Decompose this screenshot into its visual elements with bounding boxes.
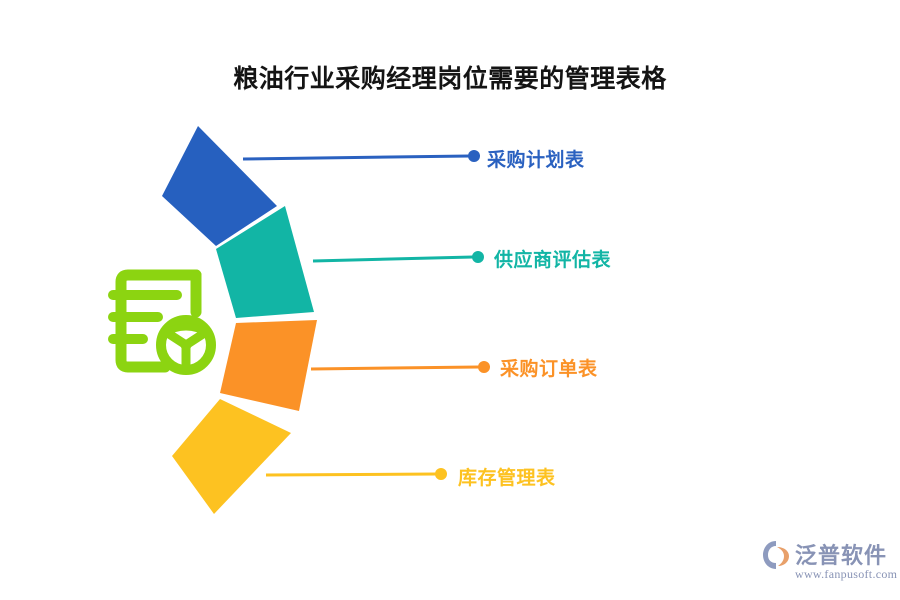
segment-label-2: 供应商评估表 [494,245,611,272]
connector-line-3 [311,367,479,369]
connector-dot-2 [472,251,484,263]
connector-dot-3 [478,361,490,373]
infographic-canvas: 粮油行业采购经理岗位需要的管理表格 [0,0,900,600]
document-checklist-steering-wheel-icon [108,275,211,370]
connector-line-1 [243,156,470,159]
connector-dot-4 [435,468,447,480]
segment-shape-yellow[interactable] [172,399,291,514]
segment-item-3[interactable] [220,320,490,411]
segment-label-1: 采购计划表 [487,145,585,172]
diagram-graphic [0,0,900,600]
brand-name: 泛普软件 [795,538,887,570]
brand-logo: 泛普软件 www.fanpusoft.com [762,538,887,586]
segment-label-3: 采购订单表 [500,354,598,381]
segment-item-1[interactable] [162,126,480,246]
segment-item-4[interactable] [172,399,447,514]
connector-line-4 [266,474,436,475]
connector-line-2 [313,257,473,261]
segment-shape-orange[interactable] [220,320,317,411]
segment-label-4: 库存管理表 [458,463,556,490]
fanpu-logo-icon [762,540,792,570]
connector-dot-1 [468,150,480,162]
segment-item-2[interactable] [216,206,484,318]
brand-url: www.fanpusoft.com [795,567,897,582]
